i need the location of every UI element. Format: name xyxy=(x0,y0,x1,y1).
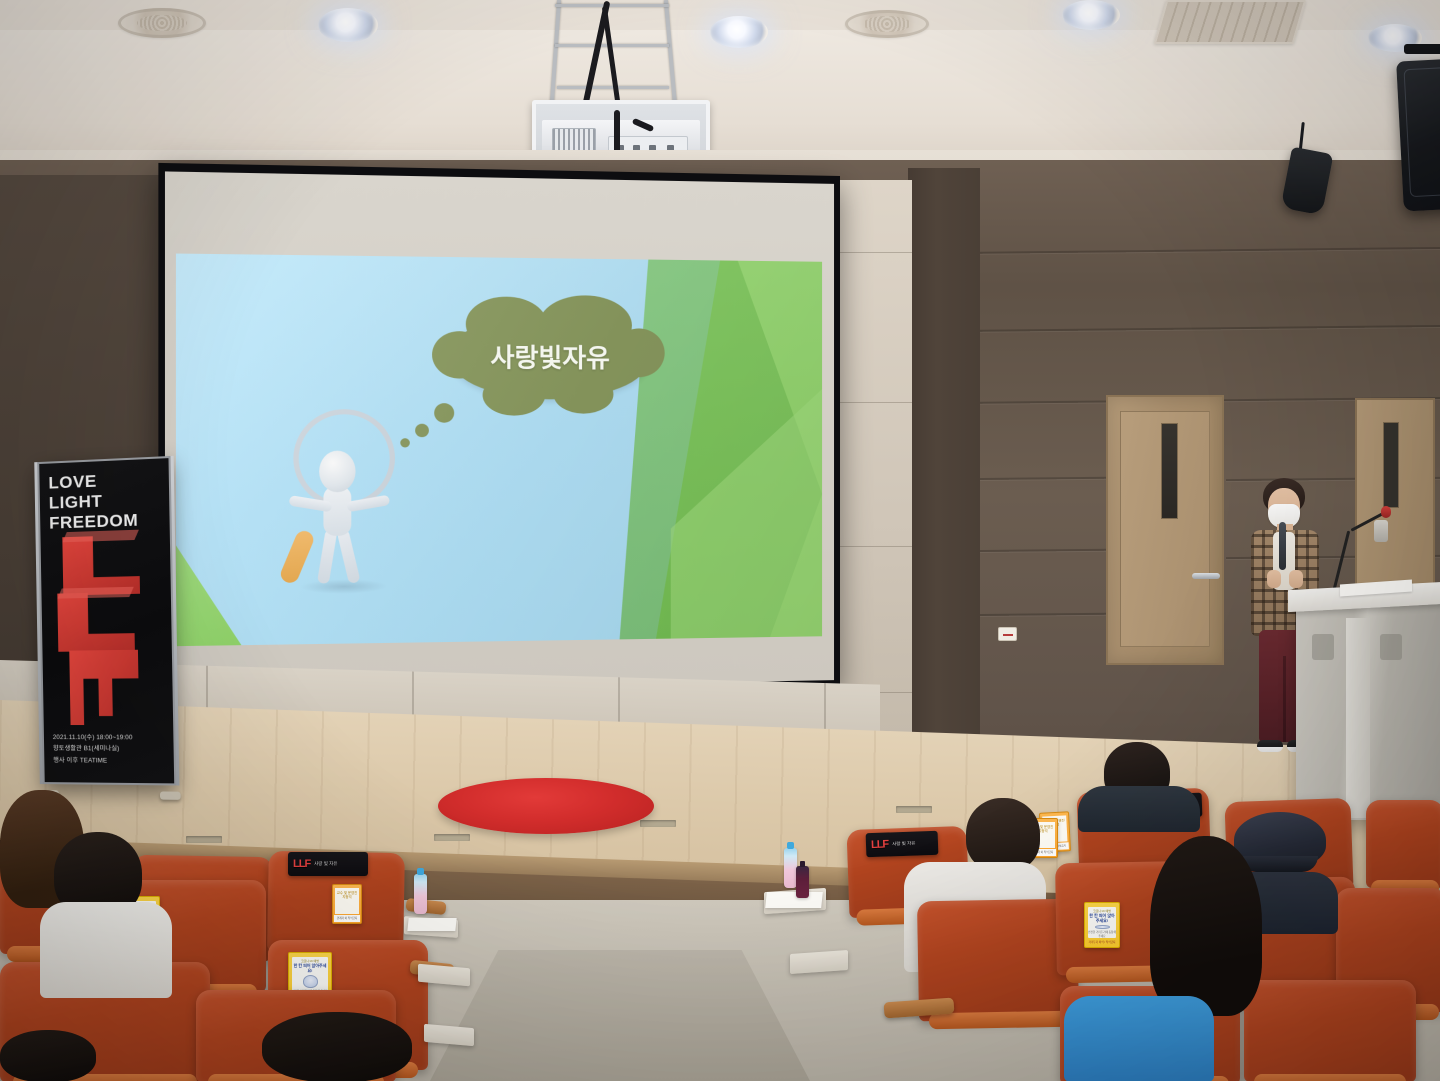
lectern-pad xyxy=(1380,634,1402,660)
presenter-hand xyxy=(1289,570,1303,588)
presentation-slide: 사랑빛자유 xyxy=(176,254,822,647)
mic-base xyxy=(1374,520,1388,542)
water-bottle xyxy=(414,874,427,914)
slide-accent-shape xyxy=(176,520,241,646)
banner-footer: 2021.11.10(수) 18:00~19:00 향토생활관 B1(세미나실)… xyxy=(53,732,167,767)
sign-footer: 거리두기 좌석 / 착석금지 xyxy=(1087,939,1117,946)
lectern-rib xyxy=(1346,618,1370,818)
door-window xyxy=(1161,423,1178,519)
seat-headrest-banner: LLF 사랑 빛 자유 xyxy=(288,852,368,876)
downlight-icon xyxy=(1062,0,1120,30)
floor-outlet-icon xyxy=(186,836,222,843)
slide-bubble-text: 사랑빛자유 xyxy=(490,338,609,375)
banner-title: LOVE LIGHT FREEDOM xyxy=(48,469,160,534)
screen-surface: 사랑빛자유 xyxy=(165,171,834,692)
llf-logo-icon xyxy=(52,534,167,738)
headrest-logo: LLF xyxy=(293,859,310,870)
presenter-hand xyxy=(1267,570,1281,588)
llf-banner: LOVE LIGHT FREEDOM 2021.11.10(수) 18:00~1… xyxy=(37,456,176,786)
floor-outlet-icon xyxy=(434,834,470,841)
thought-bubble: 사랑빛자유 xyxy=(451,313,648,400)
audience-head xyxy=(262,1012,412,1081)
llf-letter-f xyxy=(66,653,142,722)
auditorium-scene: 사랑빛자유 LOVE LIGHT FREEDOM xyxy=(0,0,1440,1081)
seat-icon xyxy=(1095,925,1110,929)
thought-dot xyxy=(400,438,410,447)
sign-title: 한 칸 띄어 앉아주세요! xyxy=(1088,914,1116,923)
speaker-bracket xyxy=(1404,44,1440,54)
lectern xyxy=(1296,600,1440,820)
sign-sub: 안전한 거리두기에 동참해 주세요 xyxy=(1088,930,1116,938)
paper-handout xyxy=(765,892,823,908)
thought-dot xyxy=(434,403,454,423)
lectern-pad xyxy=(1312,634,1334,660)
audience-head xyxy=(0,1030,96,1081)
audience-body xyxy=(1078,786,1200,832)
seat-tray xyxy=(790,950,848,974)
magnifier-handle-icon xyxy=(278,528,316,585)
wall-speaker-icon xyxy=(1396,58,1440,211)
stage-rug xyxy=(438,778,654,834)
banner-face: LOVE LIGHT FREEDOM 2021.11.10(수) 18:00~1… xyxy=(37,456,176,786)
seat[interactable] xyxy=(1244,980,1416,1081)
presenter-shoe xyxy=(1257,740,1283,752)
floor-outlet-icon xyxy=(640,820,676,827)
projection-screen: 사랑빛자유 xyxy=(158,163,840,701)
door-handle-icon[interactable] xyxy=(1192,573,1220,579)
headrest-sub-1: 사랑 빛 자유 xyxy=(314,861,337,866)
audience-head xyxy=(966,798,1040,872)
door-window xyxy=(1383,422,1399,508)
drink-bottle xyxy=(796,866,809,898)
seat-headrest-banner: LLF 사랑 빛 자유 xyxy=(866,831,939,857)
banner-footer-location: 향토생활관 B1(세미나실) xyxy=(53,743,167,755)
ceiling-vent-icon xyxy=(118,8,206,38)
audience-head xyxy=(1150,836,1262,1016)
audience-body xyxy=(1064,996,1214,1081)
headrest-logo: LLF xyxy=(871,839,889,851)
handheld-microphone-icon xyxy=(1279,522,1286,570)
ceiling-vent-icon xyxy=(845,10,929,38)
banner-footer-datetime: 2021.11.10(수) 18:00~19:00 xyxy=(53,732,167,744)
seat-reserved-sign: 교수 및 운영진 지정석 관계자 외 착석금지 xyxy=(332,884,362,924)
banner-line-freedom: FREEDOM xyxy=(49,510,160,534)
ceiling-vent-icon xyxy=(1154,0,1307,44)
headrest-sub-1: 사랑 빛 자유 xyxy=(892,841,915,847)
audience-body xyxy=(40,902,172,998)
seat-distancing-sign: 코로나19 예방 한 칸 띄어 앉아주세요! 안전한 거리두기에 동참해 주세요… xyxy=(1084,902,1120,948)
stage-door[interactable] xyxy=(1106,395,1224,665)
sign-title: 교수 및 운영진 지정석 xyxy=(335,888,359,899)
sign-footer: 관계자 외 착석금지 xyxy=(334,915,360,922)
sign-title: 한 칸 띄어 앉아주세요! xyxy=(292,964,328,973)
gooseneck-microphone-icon xyxy=(1381,506,1391,518)
slide-figure-icon xyxy=(280,409,398,591)
thought-dot xyxy=(415,424,429,437)
paper-handout xyxy=(407,918,456,931)
llf-letter-l xyxy=(62,535,140,596)
llf-letter-l xyxy=(57,592,135,652)
floor-outlet-icon xyxy=(896,806,932,813)
seat-icon xyxy=(303,975,318,988)
cap-brim-icon xyxy=(1240,856,1318,872)
seat[interactable] xyxy=(1366,800,1440,888)
wall-light-switch[interactable] xyxy=(998,627,1017,641)
banner-footer-note: 행사 이후 TEATIME xyxy=(53,755,167,767)
downlight-icon xyxy=(318,8,378,42)
